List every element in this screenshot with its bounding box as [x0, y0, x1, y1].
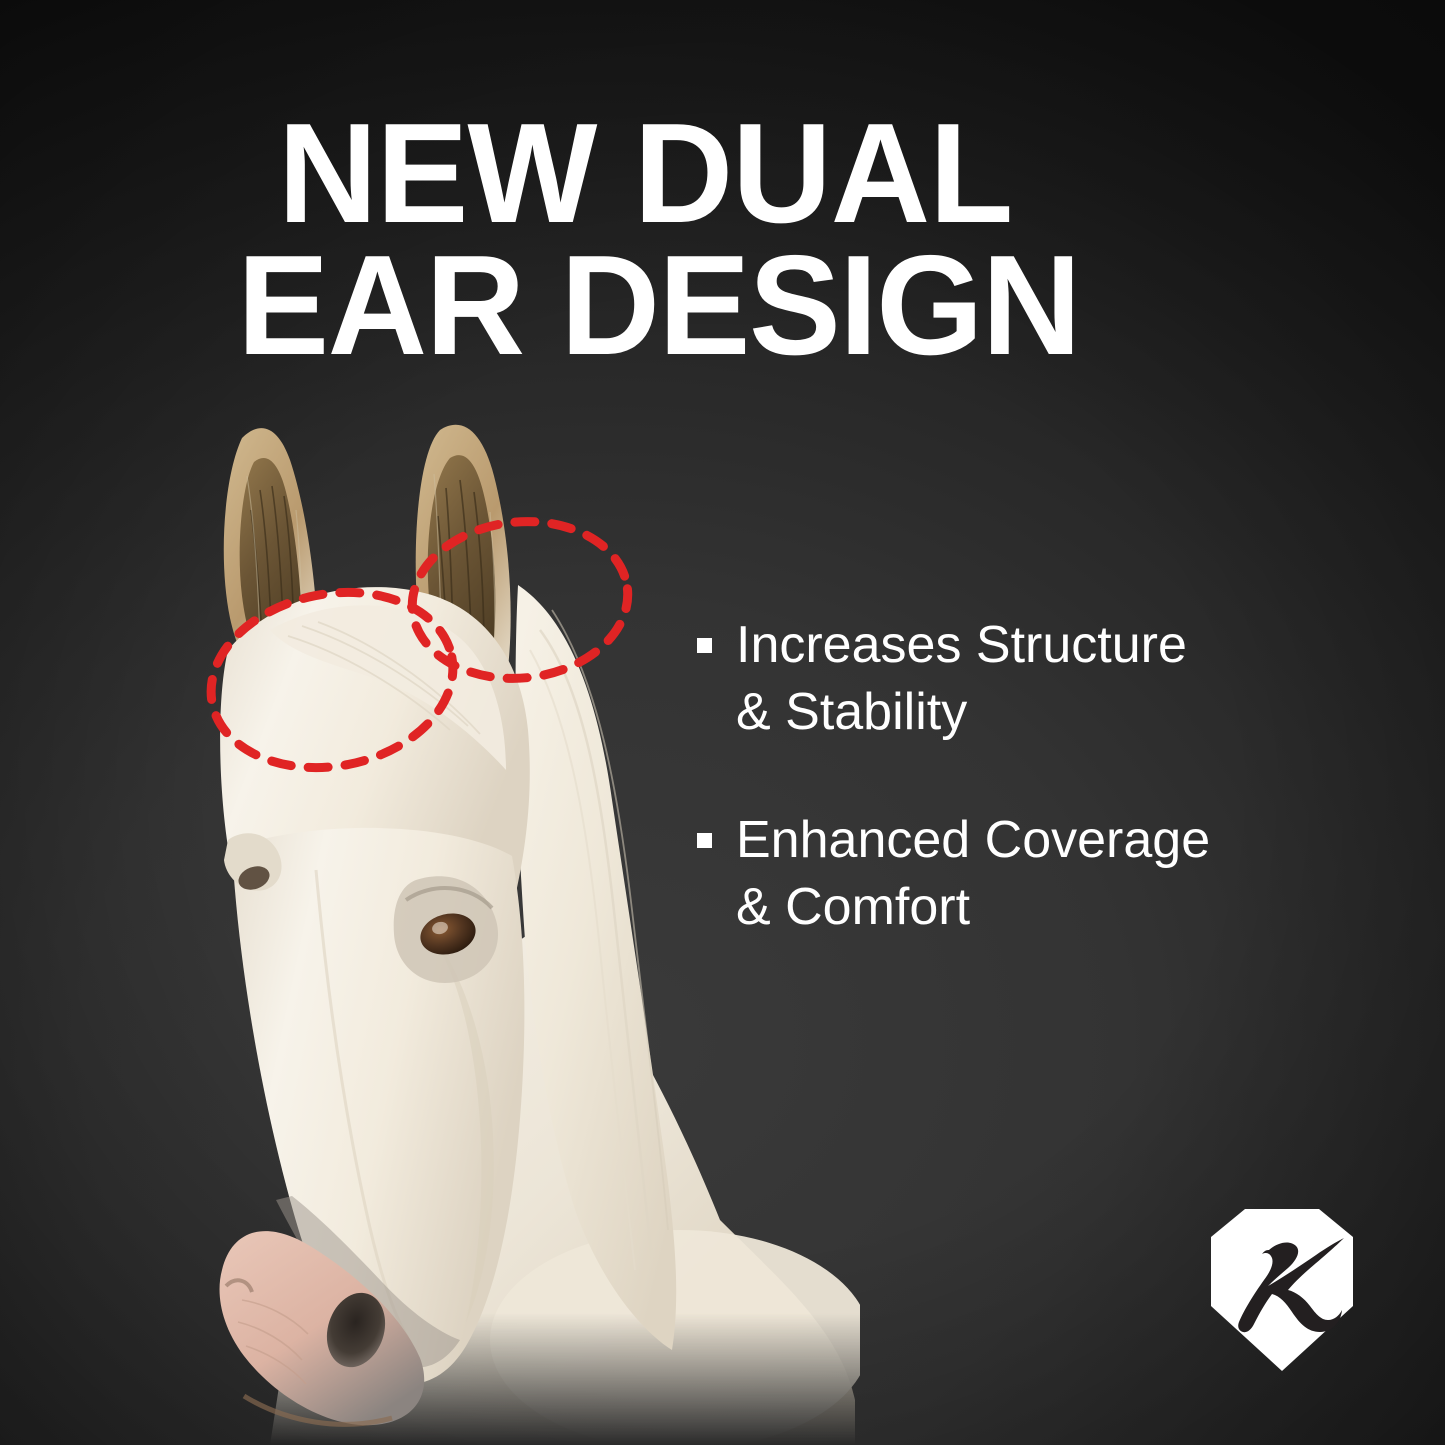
feature-list: Increases Structure & Stability Enhanced… — [697, 612, 1357, 940]
headline-line-1: NEW DUAL — [278, 108, 1170, 240]
list-item: Enhanced Coverage & Comfort — [697, 807, 1357, 940]
page-title: NEW DUAL EAR DESIGN — [278, 108, 1170, 372]
horse-head-group — [220, 425, 677, 1425]
headline-line-2: EAR DESIGN — [237, 240, 1170, 372]
list-item: Increases Structure & Stability — [697, 612, 1357, 745]
feature-text: Increases Structure & Stability — [736, 612, 1187, 745]
feature-line-1: Increases Structure — [736, 616, 1187, 674]
feature-text: Enhanced Coverage & Comfort — [736, 807, 1210, 940]
square-bullet-icon — [697, 833, 712, 848]
feature-line-2: & Comfort — [736, 878, 970, 936]
brand-logo — [1208, 1206, 1356, 1374]
feature-line-2: & Stability — [736, 683, 967, 741]
feature-line-1: Enhanced Coverage — [736, 811, 1210, 869]
square-bullet-icon — [697, 638, 712, 653]
promo-graphic: NEW DUAL EAR DESIGN Increases Structure … — [0, 0, 1445, 1445]
shield-k-icon — [1208, 1206, 1356, 1374]
